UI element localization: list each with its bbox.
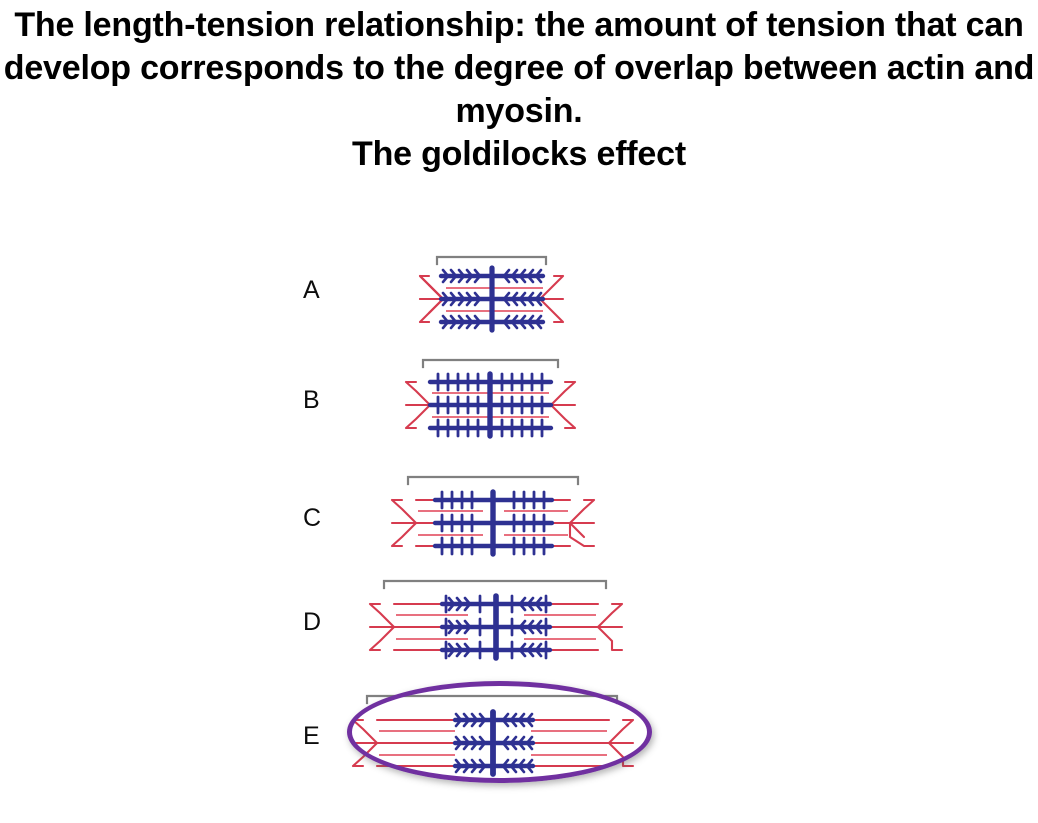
length-bracket-a [437, 257, 546, 264]
sarcomere-diagram: A [0, 232, 1038, 823]
sarcomere-figure-c [380, 472, 670, 578]
row-label-d: D [303, 610, 321, 635]
sarcomere-row-a: A [0, 240, 1038, 350]
sarcomere-figure-e [345, 690, 685, 798]
sarcomere-figure-d [360, 576, 680, 682]
sarcomere-row-e: E [0, 678, 1038, 798]
length-bracket-b [423, 360, 558, 367]
myosin-filaments-b [430, 374, 551, 436]
row-label-a: A [303, 278, 320, 303]
myosin-filaments-d [442, 596, 550, 658]
myosin-filaments-a [441, 268, 543, 330]
sarcomere-figure-b [390, 356, 660, 458]
row-label-e: E [303, 724, 320, 749]
length-bracket-d [384, 581, 606, 588]
length-bracket-e [367, 696, 617, 703]
myosin-filaments-c [435, 492, 552, 554]
row-label-c: C [303, 506, 321, 531]
page-title: The length-tension relationship: the amo… [0, 4, 1038, 176]
row-label-b: B [303, 388, 320, 413]
sarcomere-row-b: B [0, 348, 1038, 458]
length-bracket-c [408, 477, 578, 484]
myosin-filaments-e [455, 712, 533, 774]
sarcomere-figure-a [398, 254, 648, 352]
sarcomere-row-d: D [0, 568, 1038, 683]
sarcomere-row-c: C [0, 458, 1038, 578]
